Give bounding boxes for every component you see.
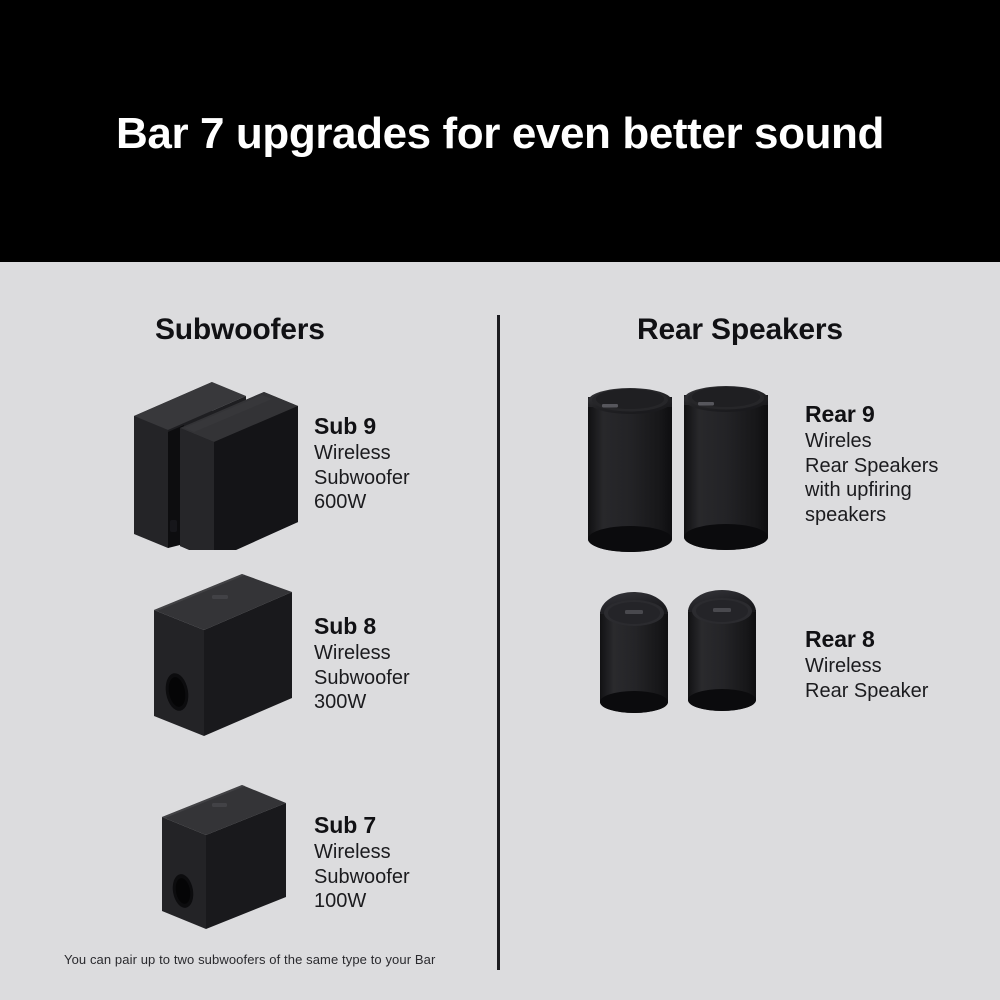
- box-subwoofer-icon: [150, 779, 300, 934]
- box-subwoofer-icon: [144, 570, 304, 740]
- cube-subwoofer-icon: [122, 370, 304, 550]
- product-desc-line: Wireless: [805, 654, 928, 679]
- product-name: Rear 8: [805, 625, 928, 654]
- product-row-sub-8: Sub 8 Wireless Subwoofer 300W: [122, 570, 502, 740]
- product-name: Sub 7: [314, 811, 410, 840]
- product-desc-line: Rear Speaker: [805, 679, 928, 704]
- product-desc-line: Subwoofer: [314, 666, 410, 691]
- column-heading-rear-speakers: Rear Speakers: [637, 313, 843, 347]
- product-row-rear-9: Rear 9 Wireles Rear Speakers with upfiri…: [570, 365, 990, 555]
- product-desc-line: Wireles: [805, 429, 938, 454]
- product-text-sub-9: Sub 9 Wireless Subwoofer 600W: [314, 412, 410, 515]
- header-band: Bar 7 upgrades for even better sound: [0, 0, 1000, 262]
- product-desc-line: Wireless: [314, 840, 410, 865]
- infographic-page: Bar 7 upgrades for even better sound Sub…: [0, 0, 1000, 1000]
- product-row-rear-8: Rear 8 Wireless Rear Speaker: [570, 580, 990, 730]
- tall-cylinder-speaker-pair-icon: [578, 369, 778, 557]
- product-desc-line: 300W: [314, 690, 410, 715]
- product-text-sub-8: Sub 8 Wireless Subwoofer 300W: [314, 612, 410, 715]
- product-row-sub-7: Sub 7 Wireless Subwoofer 100W: [122, 775, 502, 935]
- product-desc-line: Wireless: [314, 441, 410, 466]
- product-desc-line: 100W: [314, 889, 410, 914]
- product-row-sub-9: Sub 9 Wireless Subwoofer 600W: [122, 370, 502, 550]
- product-desc-line: 600W: [314, 490, 410, 515]
- product-desc-line: Rear Speakers: [805, 454, 938, 479]
- footnote-text: You can pair up to two subwoofers of the…: [64, 952, 435, 967]
- product-desc-line: Subwoofer: [314, 865, 410, 890]
- product-name: Rear 9: [805, 400, 938, 429]
- product-name: Sub 8: [314, 612, 410, 641]
- column-heading-subwoofers: Subwoofers: [155, 313, 325, 347]
- product-name: Sub 9: [314, 412, 410, 441]
- product-desc-line: speakers: [805, 503, 938, 528]
- product-text-rear-9: Rear 9 Wireles Rear Speakers with upfiri…: [805, 400, 938, 527]
- product-text-sub-7: Sub 7 Wireless Subwoofer 100W: [314, 811, 410, 914]
- product-desc-line: Wireless: [314, 641, 410, 666]
- short-cylinder-speaker-pair-icon: [588, 584, 768, 728]
- page-title: Bar 7 upgrades for even better sound: [0, 106, 1000, 162]
- product-desc-line: Subwoofer: [314, 466, 410, 491]
- product-desc-line: with upfiring: [805, 478, 938, 503]
- product-text-rear-8: Rear 8 Wireless Rear Speaker: [805, 625, 928, 703]
